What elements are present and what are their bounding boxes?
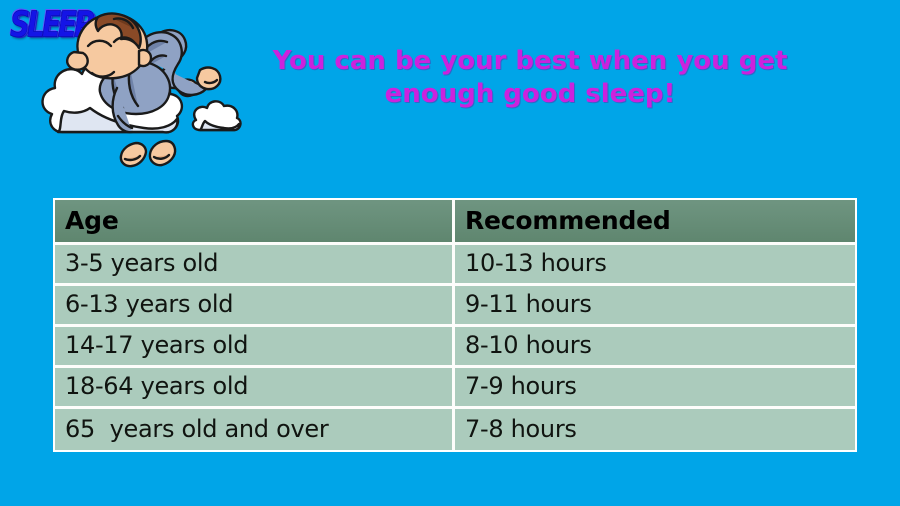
page-title: You can be your best when you get enough… [250, 45, 810, 112]
cell-recommended: 7-9 hours [455, 368, 855, 409]
headline-line-1: You can be your best when you get [250, 45, 810, 78]
table-row: 65 years old and over 7-8 hours [55, 409, 855, 450]
cell-recommended: 9-11 hours [455, 286, 855, 327]
cell-recommended: 7-8 hours [455, 409, 855, 450]
cell-age: 65 years old and over [55, 409, 455, 450]
headline-line-2: enough good sleep! [250, 78, 810, 111]
column-header-recommended: Recommended [455, 200, 855, 245]
table-body: 3-5 years old 10-13 hours 6-13 years old… [55, 245, 855, 450]
cell-age: 14-17 years old [55, 327, 455, 368]
table-row: 6-13 years old 9-11 hours [55, 286, 855, 327]
cell-age: 6-13 years old [55, 286, 455, 327]
column-header-age: Age [55, 200, 455, 245]
table-header-row: Age Recommended [55, 200, 855, 245]
sleep-recommendation-table-container: Age Recommended 3-5 years old 10-13 hour… [55, 200, 855, 450]
table-row: 3-5 years old 10-13 hours [55, 245, 855, 286]
cell-age: 18-64 years old [55, 368, 455, 409]
table-row: 14-17 years old 8-10 hours [55, 327, 855, 368]
table-row: 18-64 years old 7-9 hours [55, 368, 855, 409]
cell-age: 3-5 years old [55, 245, 455, 286]
sleep-recommendation-table: Age Recommended 3-5 years old 10-13 hour… [55, 200, 855, 450]
sleeping-man-on-cloud-illustration: .ink { stroke:#1a1a1a; stroke-width:2.4;… [18, 4, 278, 184]
table-header: Age Recommended [55, 200, 855, 245]
cell-recommended: 8-10 hours [455, 327, 855, 368]
cell-recommended: 10-13 hours [455, 245, 855, 286]
